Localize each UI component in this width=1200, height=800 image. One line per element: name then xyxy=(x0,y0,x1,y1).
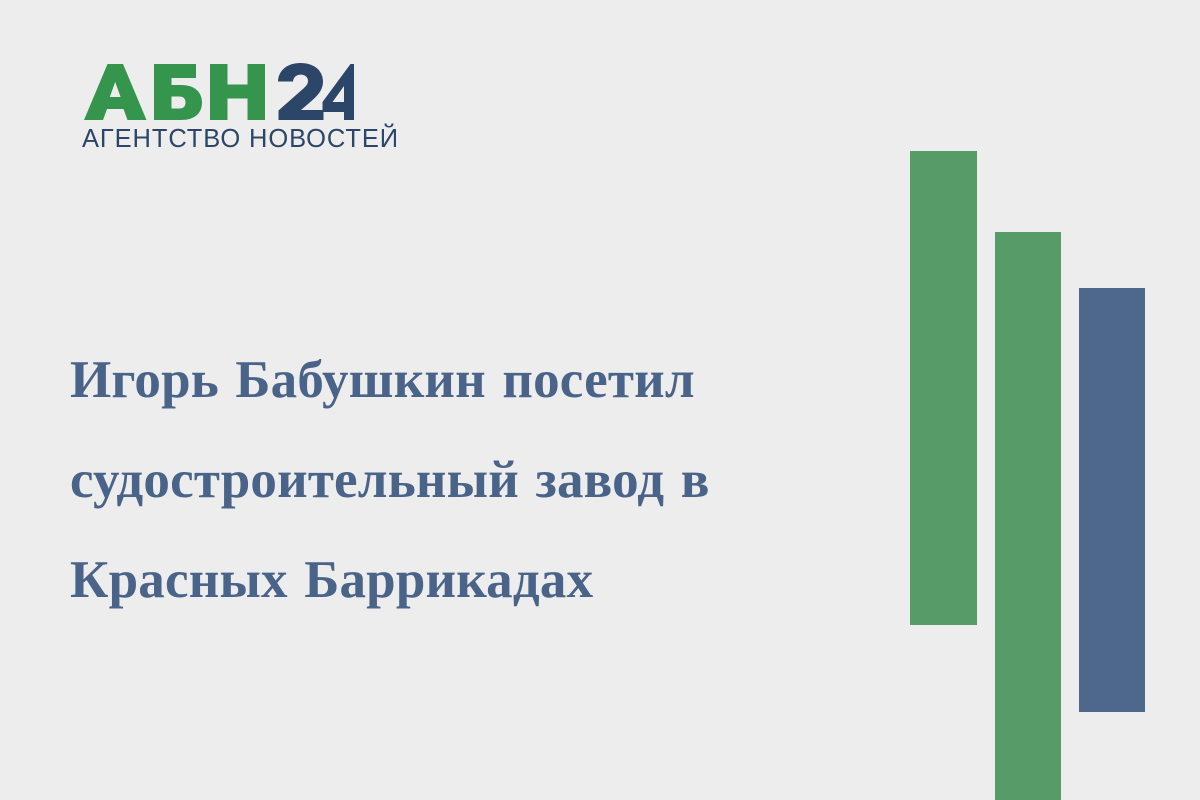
abn24-wordmark-icon xyxy=(82,62,354,122)
decorative-bar-3 xyxy=(1079,288,1145,712)
site-logo[interactable]: АГЕНТСТВО НОВОСТЕЙ xyxy=(82,62,372,154)
news-card: АГЕНТСТВО НОВОСТЕЙ Игорь Бабушкин посети… xyxy=(0,0,1200,800)
logo-tagline: АГЕНТСТВО НОВОСТЕЙ xyxy=(82,125,372,154)
page-title: Игорь Бабушкин посетил судостроительный … xyxy=(70,330,870,630)
decorative-bar-2 xyxy=(995,232,1061,800)
decorative-bar-1 xyxy=(910,151,977,625)
